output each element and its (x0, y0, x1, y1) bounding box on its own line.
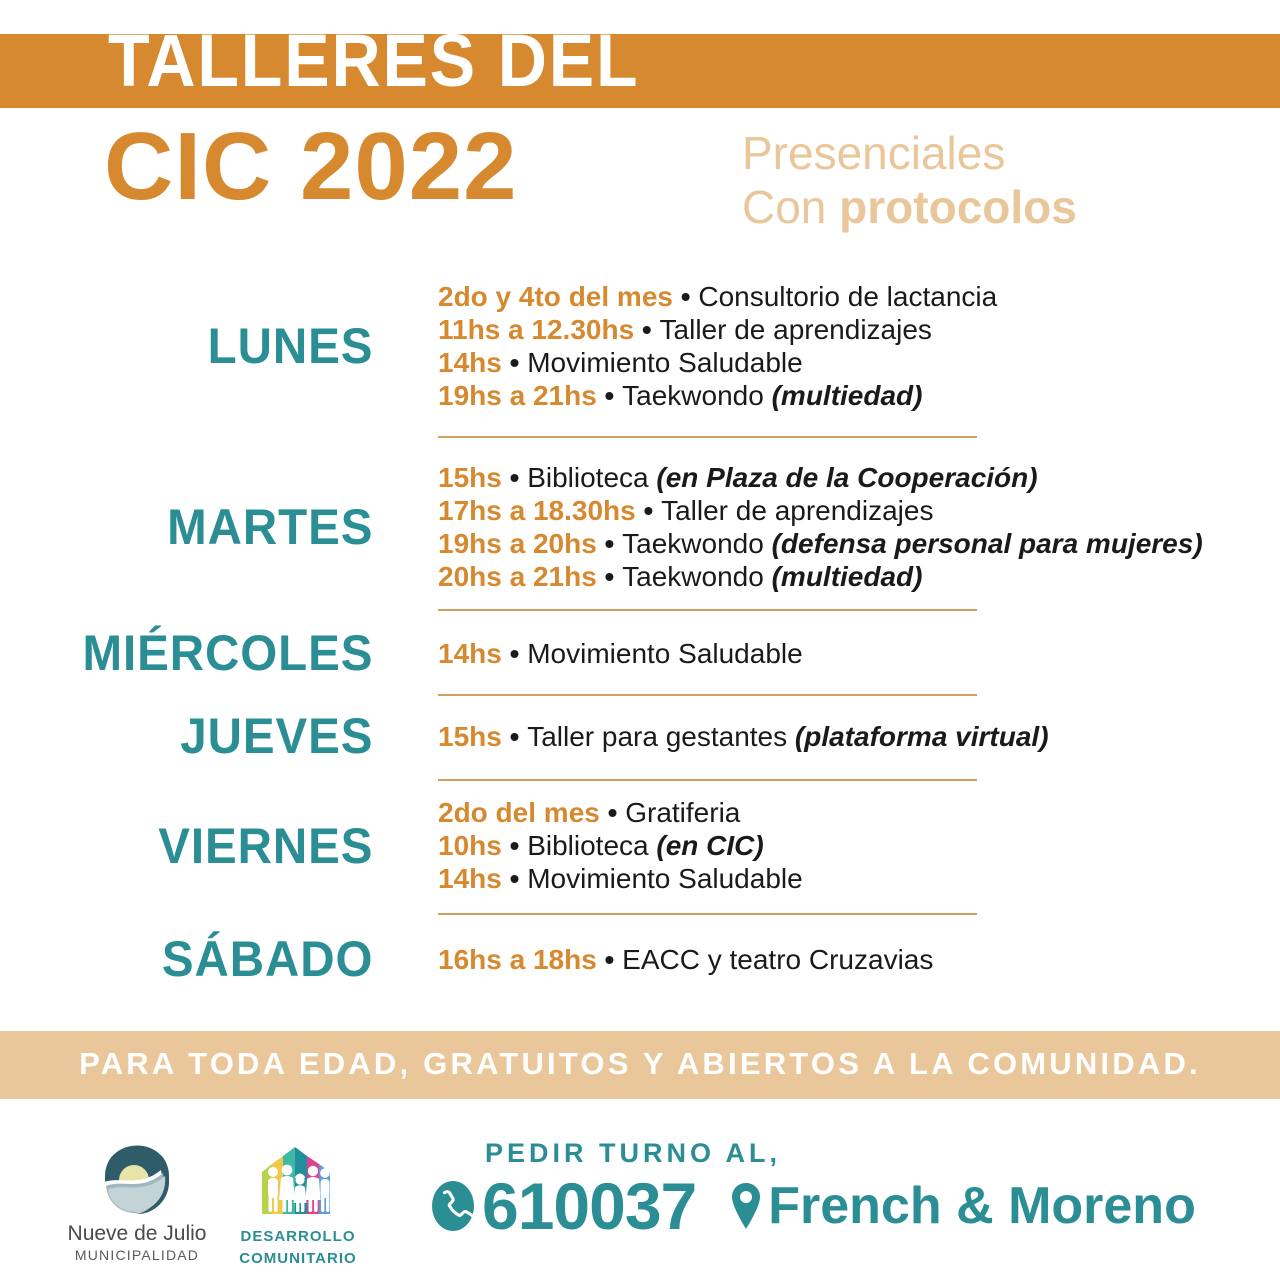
schedule-day-row: MIÉRCOLES14hs • Movimiento Saludable (0, 626, 1280, 680)
activity-bullet: • (636, 495, 661, 526)
divider-line (438, 609, 977, 611)
section-divider (0, 779, 1280, 780)
activity-item: 15hs • Biblioteca (en Plaza de la Cooper… (438, 461, 1280, 494)
activity-item: 16hs a 18hs • EACC y teatro Cruzavias (438, 943, 1280, 976)
schedule-day-row: LUNES2do y 4to del mes • Consultorio de … (0, 280, 1280, 412)
poster: TALLERES DEL CIC 2022 Presenciales Con p… (0, 0, 1280, 1280)
day-label: MARTES (20, 500, 400, 554)
activity-note: (multiedad) (764, 561, 923, 592)
activity-time: 2do del mes (438, 797, 600, 828)
location-pin-icon (730, 1180, 762, 1232)
activity-bullet: • (502, 462, 527, 493)
activity-bullet: • (634, 314, 659, 345)
phone-icon (430, 1178, 476, 1234)
community-banner-text: PARA TODA EDAD, GRATUITOS Y ABIERTOS A L… (0, 1046, 1280, 1082)
activity-name: Taekwondo (622, 380, 764, 411)
activity-name: Consultorio de lactancia (698, 281, 997, 312)
activity-name: Movimiento Saludable (527, 638, 803, 669)
activity-bullet: • (502, 830, 527, 861)
day-label: LUNES (20, 319, 400, 373)
divider-line (438, 913, 977, 915)
section-divider (0, 913, 1280, 914)
activity-item: 19hs a 20hs • Taekwondo (defensa persona… (438, 527, 1280, 560)
desarrollo-comunitario-house-icon (248, 1142, 348, 1218)
day-label: JUEVES (20, 709, 400, 763)
page-title: CIC 2022 (104, 118, 518, 216)
activity-bullet: • (597, 944, 622, 975)
program-logo: DESARROLLO COMUNITARIO (234, 1142, 362, 1267)
activity-note: (en Plaza de la Cooperación) (649, 462, 1038, 493)
activity-bullet: • (600, 797, 625, 828)
activity-time: 17hs a 18.30hs (438, 495, 636, 526)
activity-note: (multiedad) (764, 380, 923, 411)
nueve-de-julio-emblem-icon (99, 1142, 175, 1218)
call-to-action-text: PEDIR TURNO AL, (485, 1138, 1270, 1169)
activity-bullet: • (673, 281, 698, 312)
activity-bullet: • (502, 863, 527, 894)
day-activity-list: 2do del mes • Gratiferia10hs • Bibliotec… (400, 796, 1280, 895)
activity-item: 14hs • Movimiento Saludable (438, 637, 1280, 670)
schedule-day-row: VIERNES2do del mes • Gratiferia10hs • Bi… (0, 796, 1280, 895)
activity-name: Movimiento Saludable (527, 347, 803, 378)
activity-bullet: • (502, 347, 527, 378)
activity-item: 2do y 4to del mes • Consultorio de lacta… (438, 280, 1280, 313)
activity-item: 11hs a 12.30hs • Taller de aprendizajes (438, 313, 1280, 346)
day-label: SÁBADO (20, 932, 400, 986)
activity-time: 19hs a 20hs (438, 528, 597, 559)
activity-bullet: • (502, 721, 527, 752)
divider-line (438, 436, 977, 438)
activity-item: 19hs a 21hs • Taekwondo (multiedad) (438, 379, 1280, 412)
activity-item: 20hs a 21hs • Taekwondo (multiedad) (438, 560, 1280, 593)
activity-time: 10hs (438, 830, 502, 861)
activity-bullet: • (597, 528, 622, 559)
day-activity-list: 15hs • Biblioteca (en Plaza de la Cooper… (400, 461, 1280, 593)
activity-name: Biblioteca (527, 830, 648, 861)
section-divider (0, 694, 1280, 695)
activity-time: 16hs a 18hs (438, 944, 597, 975)
subtitle-line-2-regular: Con (742, 181, 839, 233)
schedule-list: LUNES2do y 4to del mes • Consultorio de … (0, 280, 1280, 986)
activity-bullet: • (597, 561, 622, 592)
activity-item: 14hs • Movimiento Saludable (438, 346, 1280, 379)
activity-item: 2do del mes • Gratiferia (438, 796, 1280, 829)
poster-kicker: TALLERES DEL (108, 24, 639, 98)
schedule-day-row: SÁBADO16hs a 18hs • EACC y teatro Cruzav… (0, 932, 1280, 986)
contact-block: PEDIR TURNO AL, 610037 French & Moreno (430, 1138, 1270, 1241)
activity-item: 14hs • Movimiento Saludable (438, 862, 1280, 895)
subtitle-line-2-bold: protocolos (839, 181, 1077, 233)
activity-name: Biblioteca (527, 462, 648, 493)
program-name-line-2: COMUNITARIO (234, 1250, 362, 1267)
activity-bullet: • (502, 638, 527, 669)
activity-time: 19hs a 21hs (438, 380, 597, 411)
municipality-name: Nueve de Julio (52, 1222, 222, 1246)
subtitle-line-1: Presenciales (742, 126, 1212, 180)
address-text: French & Moreno (768, 1176, 1196, 1236)
day-activity-list: 14hs • Movimiento Saludable (400, 637, 1280, 670)
activity-time: 20hs a 21hs (438, 561, 597, 592)
activity-time: 14hs (438, 347, 502, 378)
schedule-day-row: JUEVES15hs • Taller para gestantes (plat… (0, 709, 1280, 763)
section-divider (0, 436, 1280, 437)
day-label: MIÉRCOLES (20, 626, 400, 680)
program-name-line-1: DESARROLLO (234, 1228, 362, 1245)
activity-item: 10hs • Biblioteca (en CIC) (438, 829, 1280, 862)
activity-time: 14hs (438, 638, 502, 669)
day-label: VIERNES (20, 819, 400, 873)
activity-note: (plataforma virtual) (787, 721, 1048, 752)
day-activity-list: 16hs a 18hs • EACC y teatro Cruzavias (400, 943, 1280, 976)
day-activity-list: 2do y 4to del mes • Consultorio de lacta… (400, 280, 1280, 412)
subtitle-line-2: Con protocolos (742, 180, 1212, 234)
activity-name: Taekwondo (622, 561, 764, 592)
activity-name: Taller de aprendizajes (660, 314, 932, 345)
activity-time: 11hs a 12.30hs (438, 314, 634, 345)
divider-line (438, 694, 977, 696)
contact-row: 610037 French & Moreno (430, 1171, 1270, 1241)
activity-time: 15hs (438, 721, 502, 752)
phone-number[interactable]: 610037 (482, 1171, 696, 1241)
activity-name: Movimiento Saludable (527, 863, 803, 894)
activity-note: (en CIC) (649, 830, 764, 861)
activity-time: 2do y 4to del mes (438, 281, 673, 312)
municipality-subtitle: MUNICIPALIDAD (52, 1247, 222, 1263)
day-activity-list: 15hs • Taller para gestantes (plataforma… (400, 720, 1280, 753)
activity-item: 15hs • Taller para gestantes (plataforma… (438, 720, 1280, 753)
municipality-logo: Nueve de Julio MUNICIPALIDAD (52, 1142, 222, 1263)
activity-name: Taller para gestantes (527, 721, 787, 752)
activity-name: Taekwondo (622, 528, 764, 559)
divider-line (438, 779, 977, 781)
schedule-day-row: MARTES15hs • Biblioteca (en Plaza de la … (0, 461, 1280, 593)
activity-time: 15hs (438, 462, 502, 493)
activity-time: 14hs (438, 863, 502, 894)
footer: Nueve de Julio MUNICIPALIDAD (0, 1120, 1280, 1280)
activity-note: (defensa personal para mujeres) (764, 528, 1203, 559)
activity-name: Gratiferia (625, 797, 740, 828)
subtitle-block: Presenciales Con protocolos (742, 126, 1212, 234)
activity-bullet: • (597, 380, 622, 411)
activity-name: Taller de aprendizajes (661, 495, 933, 526)
section-divider (0, 609, 1280, 610)
activity-name: EACC y teatro Cruzavias (622, 944, 933, 975)
activity-item: 17hs a 18.30hs • Taller de aprendizajes (438, 494, 1280, 527)
